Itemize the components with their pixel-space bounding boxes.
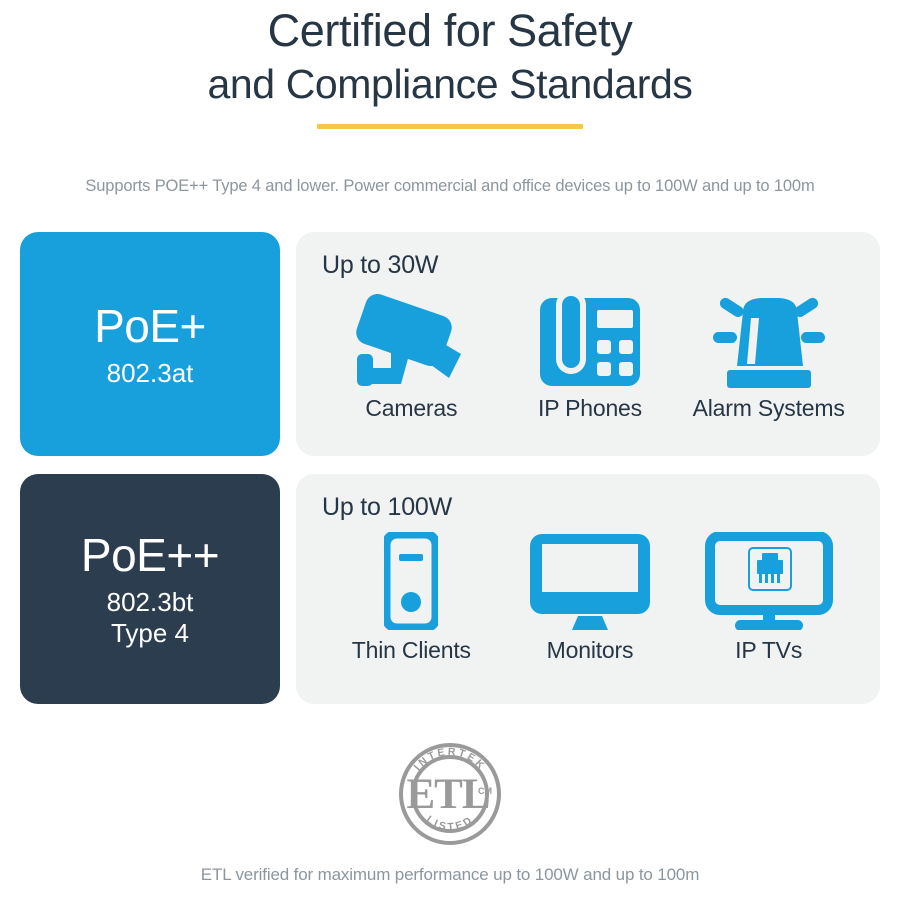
device-label-alarm-systems: Alarm Systems [693,394,845,422]
poe-plus-plus-wattage-label: Up to 100W [322,492,858,522]
thin-client-tower-icon [384,526,438,630]
poe-tier-row: PoE++ 802.3bt Type 4 Up to 100W [20,474,880,704]
poe-tier-rows: PoE+ 802.3at Up to 30W [20,232,880,704]
poe-plus-device-card: Up to 30W [296,232,880,456]
infographic-page: Certified for Safety and Compliance Stan… [0,0,900,900]
svg-text:INTERTEK: INTERTEK [411,746,488,773]
etl-intertek-listed-logo: INTERTEK LISTED ETL CM [394,738,506,850]
ip-phone-icon [539,284,641,388]
device-item-monitors: Monitors [501,526,680,664]
page-footer: INTERTEK LISTED ETL CM ETL verified for … [0,736,900,886]
monitor-icon [528,526,652,630]
security-camera-icon [349,284,473,388]
poe-plus-plus-standard-line-1: 802.3bt [107,587,194,618]
page-title-line-1: Certified for Safety [0,4,900,58]
poe-plus-device-grid: Cameras [322,284,858,422]
poe-plus-plus-badge-title: PoE++ [81,529,219,581]
device-item-alarm-systems: Alarm Systems [679,284,858,422]
etl-logo-superscript: CM [478,786,492,796]
poe-plus-badge-title: PoE+ [94,300,206,352]
device-item-ip-phones: IP Phones [501,284,680,422]
page-title-line-2: and Compliance Standards [0,58,900,110]
poe-plus-plus-badge-standard: 802.3bt Type 4 [107,587,194,649]
device-item-ip-tvs: IP TVs [679,526,858,664]
poe-plus-wattage-label: Up to 30W [322,250,858,280]
page-header: Certified for Safety and Compliance Stan… [0,0,900,197]
device-label-monitors: Monitors [547,636,634,664]
poe-plus-plus-badge: PoE++ 802.3bt Type 4 [20,474,280,704]
poe-plus-plus-device-card: Up to 100W Thin Clients [296,474,880,704]
device-label-ip-phones: IP Phones [538,394,642,422]
rj45-glyph [757,553,783,583]
poe-plus-plus-device-grid: Thin Clients [322,526,858,664]
footer-caption: ETL verified for maximum performance up … [0,864,900,886]
page-subtitle: Supports POE++ Type 4 and lower. Power c… [0,175,900,197]
poe-plus-plus-standard-line-2: Type 4 [107,618,194,649]
device-label-ip-tvs: IP TVs [735,636,802,664]
poe-tier-row: PoE+ 802.3at Up to 30W [20,232,880,456]
device-label-cameras: Cameras [365,394,457,422]
poe-plus-badge: PoE+ 802.3at [20,232,280,456]
ip-tv-icon [705,526,833,630]
alarm-siren-icon [705,284,833,388]
title-accent-rule [317,124,583,129]
device-label-thin-clients: Thin Clients [352,636,471,664]
poe-plus-badge-standard: 802.3at [107,358,194,389]
device-item-cameras: Cameras [322,284,501,422]
etl-logo-container: INTERTEK LISTED ETL CM [0,736,900,852]
device-item-thin-clients: Thin Clients [322,526,501,664]
etl-logo-top-text: INTERTEK [411,746,488,773]
